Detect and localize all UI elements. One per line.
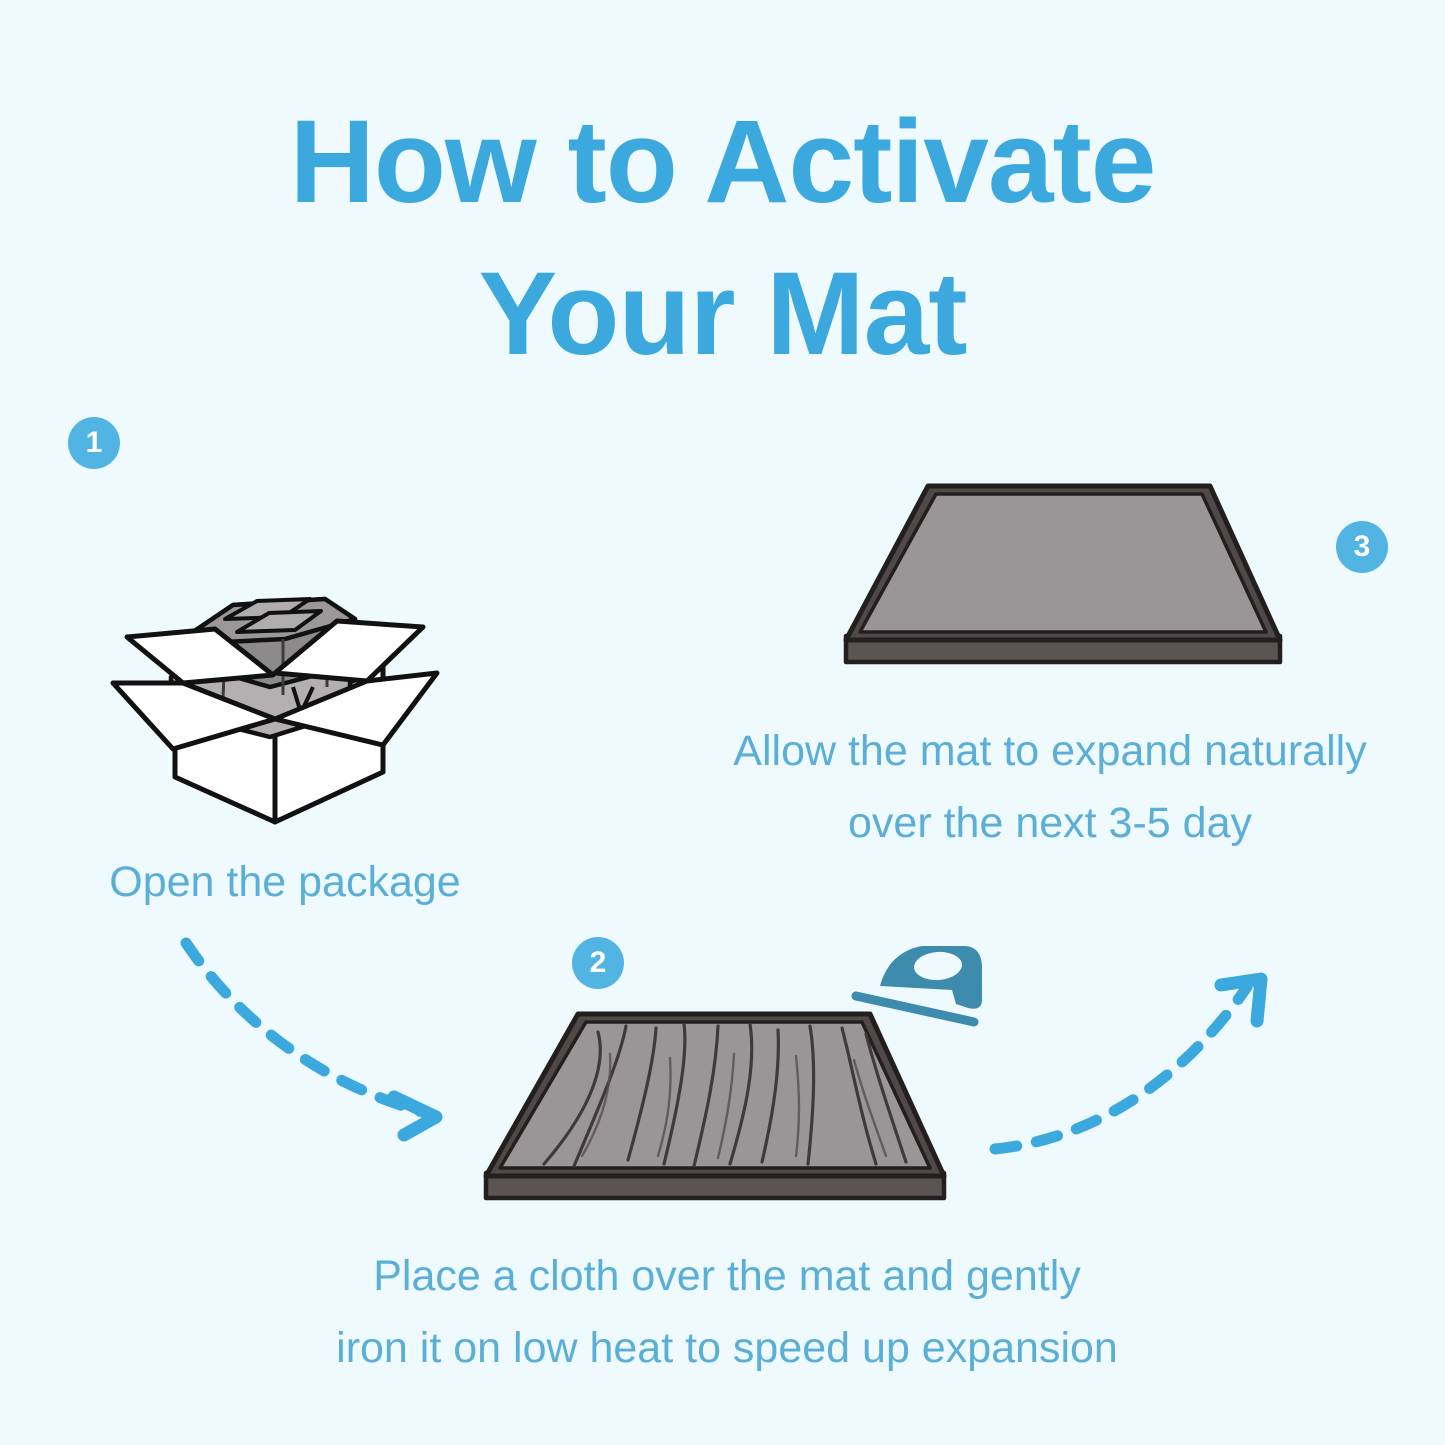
step-badge-3: 3	[1336, 521, 1388, 573]
step-2-caption: Place a cloth over the mat and gently ir…	[232, 1240, 1222, 1384]
caption-line: Place a cloth over the mat and gently	[232, 1240, 1222, 1312]
caption-line: Open the package	[30, 846, 540, 918]
step-badge-1: 1	[68, 417, 120, 469]
infographic-canvas: How to Activate Your Mat 1	[0, 0, 1445, 1445]
caption-line: over the next 3-5 day	[660, 787, 1440, 859]
title-line-1: How to Activate	[0, 86, 1445, 238]
dashed-arrow-down-right-icon	[168, 925, 498, 1140]
step-badge-2: 2	[572, 937, 624, 989]
step-1-caption: Open the package	[30, 846, 540, 918]
open-box-icon	[105, 487, 445, 822]
caption-line: Allow the mat to expand naturally	[660, 715, 1440, 787]
step-3-caption: Allow the mat to expand naturally over t…	[660, 715, 1440, 859]
title-line-2: Your Mat	[0, 238, 1445, 390]
caption-line: iron it on low heat to speed up expansio…	[232, 1312, 1222, 1384]
flat-mat-icon	[828, 468, 1298, 683]
cloth-covered-mat-icon	[478, 998, 968, 1223]
dashed-arrow-up-right-icon	[985, 965, 1285, 1165]
page-title: How to Activate Your Mat	[0, 86, 1445, 390]
